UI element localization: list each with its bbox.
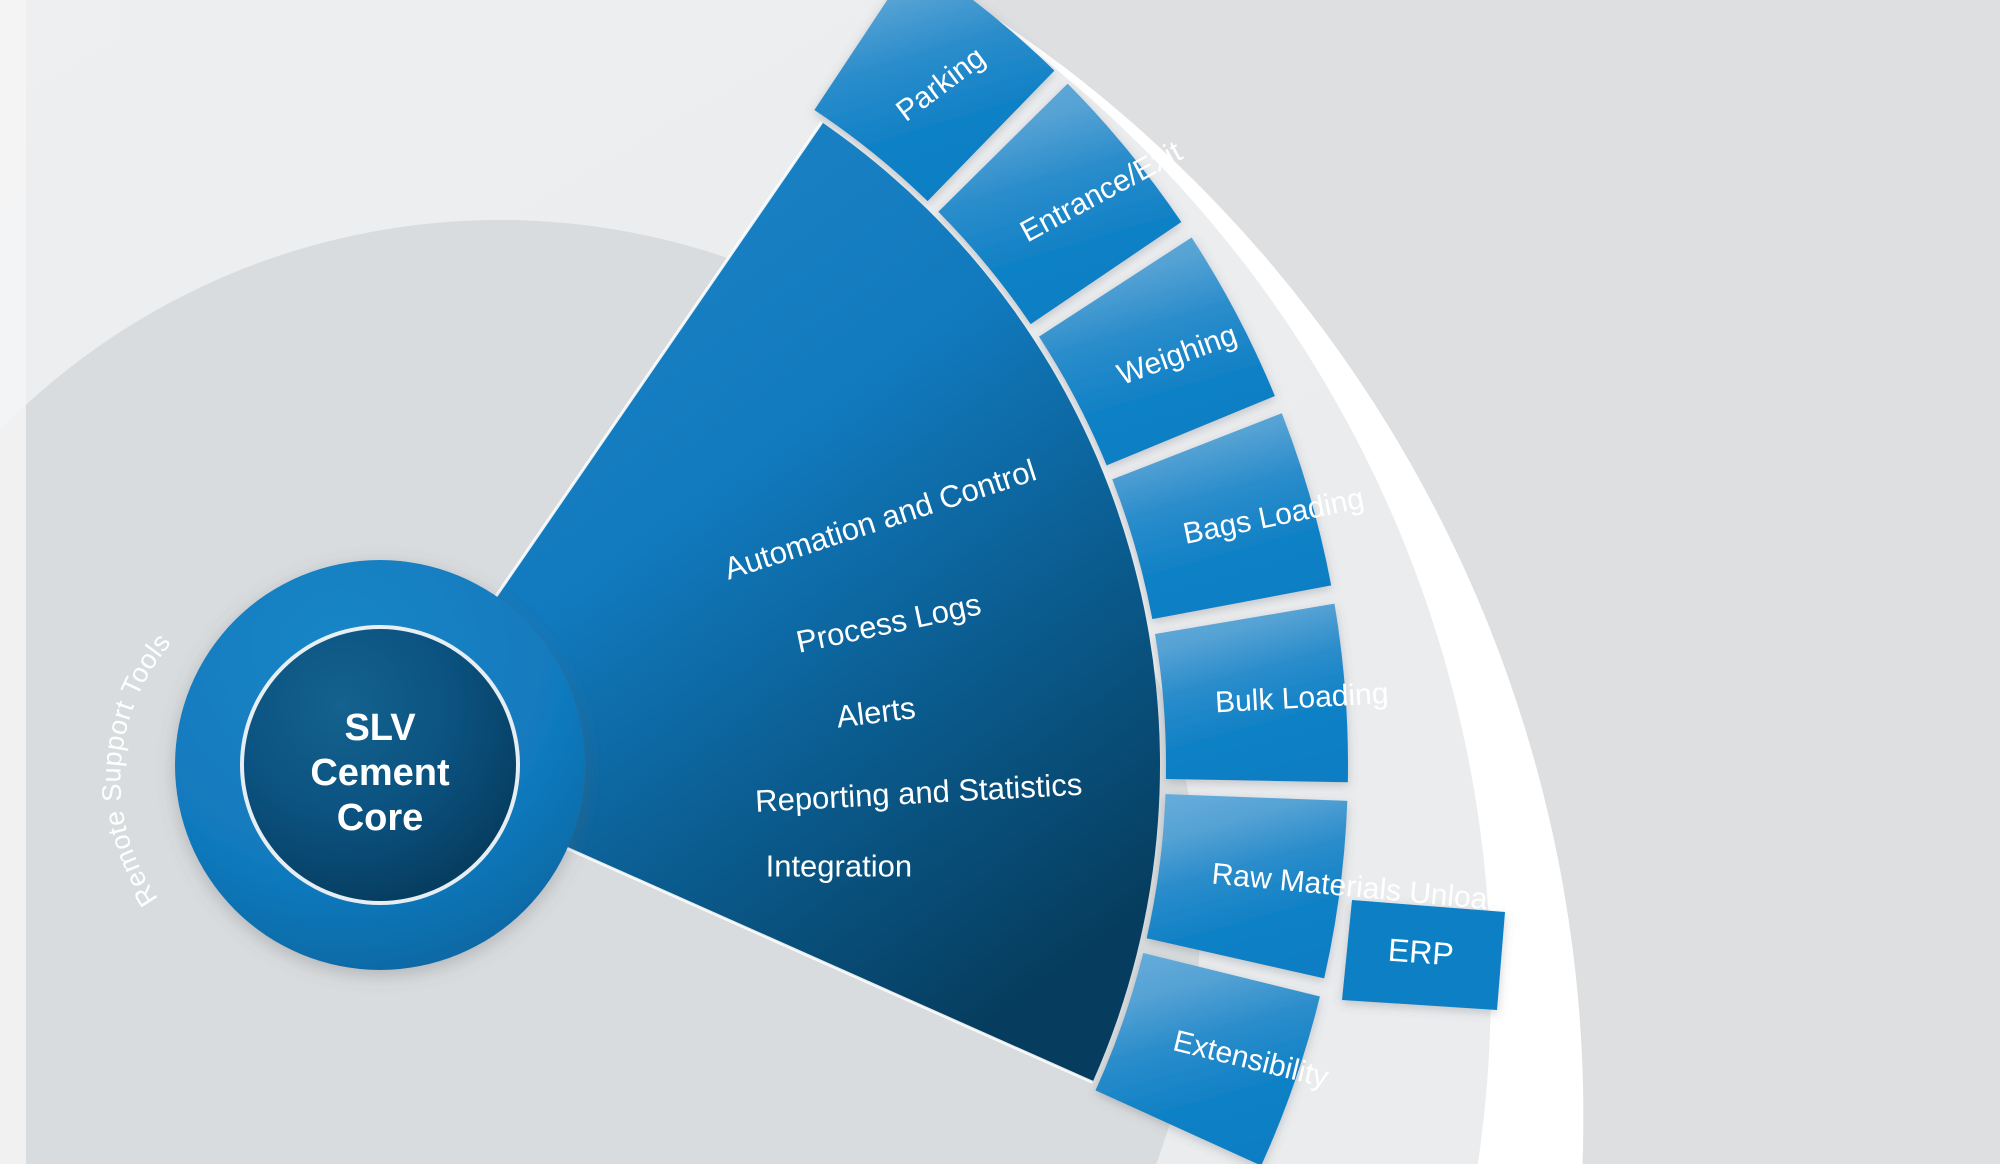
diagram-canvas: Remote Support Tools SLV Cement Core ERP…	[0, 0, 2000, 1164]
slv-cement-core-diagram: Remote Support Tools SLV Cement Core ERP…	[0, 0, 2000, 1164]
external-erp-group: ERP	[1342, 900, 1505, 1010]
core-label-line3: Core	[337, 797, 424, 839]
background-left-edge	[0, 0, 26, 1164]
erp-label: ERP	[1387, 932, 1455, 973]
inner-capability-label: Integration	[766, 849, 913, 884]
core-label-line2: Cement	[310, 752, 450, 794]
core-label-line1: SLV	[344, 707, 416, 749]
